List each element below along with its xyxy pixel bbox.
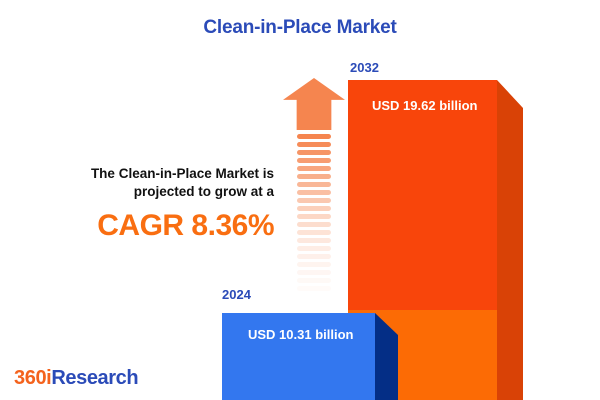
arrow-stripe [297,206,331,211]
arrow-stripe [297,174,331,179]
arrow-stripe [297,222,331,227]
cagr-callout: The Clean-in-Place Market is projected t… [42,165,274,243]
arrow-stripe [297,286,331,291]
arrow-stripe [297,238,331,243]
infographic-canvas: Clean-in-Place Market 2032 USD 19.62 bil… [0,0,600,400]
arrow-stripe [297,246,331,251]
page-title: Clean-in-Place Market [0,17,600,39]
cagr-value: CAGR 8.36% [42,209,274,243]
brand-logo-suffix: Research [51,367,138,389]
arrow-stripe [297,254,331,259]
arrow-stripe [297,158,331,163]
bar-forecast-front-upper [348,80,497,310]
arrow-stripe [297,142,331,147]
arrow-stripe [297,134,331,139]
growth-arrow-icon [283,78,345,294]
cagr-lead-text: The Clean-in-Place Market is projected t… [42,165,274,201]
arrow-stripe [297,278,331,283]
arrow-stripe [297,230,331,235]
arrow-stripe [297,262,331,267]
cagr-lead-line-2: projected to grow at a [42,183,274,201]
arrow-head-icon [283,78,345,130]
cagr-lead-line-1: The Clean-in-Place Market is [42,165,274,183]
bar-base-side-face [375,313,398,400]
brand-logo[interactable]: 360iResearch [14,367,138,390]
arrow-stripe [297,214,331,219]
bar-value-2032: USD 19.62 billion [372,98,477,113]
arrow-stripe [297,198,331,203]
arrow-stripe [297,190,331,195]
year-label-2024: 2024 [222,287,251,302]
arrow-stripe [297,166,331,171]
brand-logo-prefix: 360i [14,367,51,389]
arrow-stripe [297,182,331,187]
bar-value-2024: USD 10.31 billion [248,327,353,342]
arrow-stripes [297,134,331,294]
bar-forecast-side-face [497,80,523,400]
arrow-stripe [297,150,331,155]
bar-base-year: USD 10.31 billion [222,313,398,400]
arrow-stripe [297,270,331,275]
year-label-2032: 2032 [350,60,379,75]
